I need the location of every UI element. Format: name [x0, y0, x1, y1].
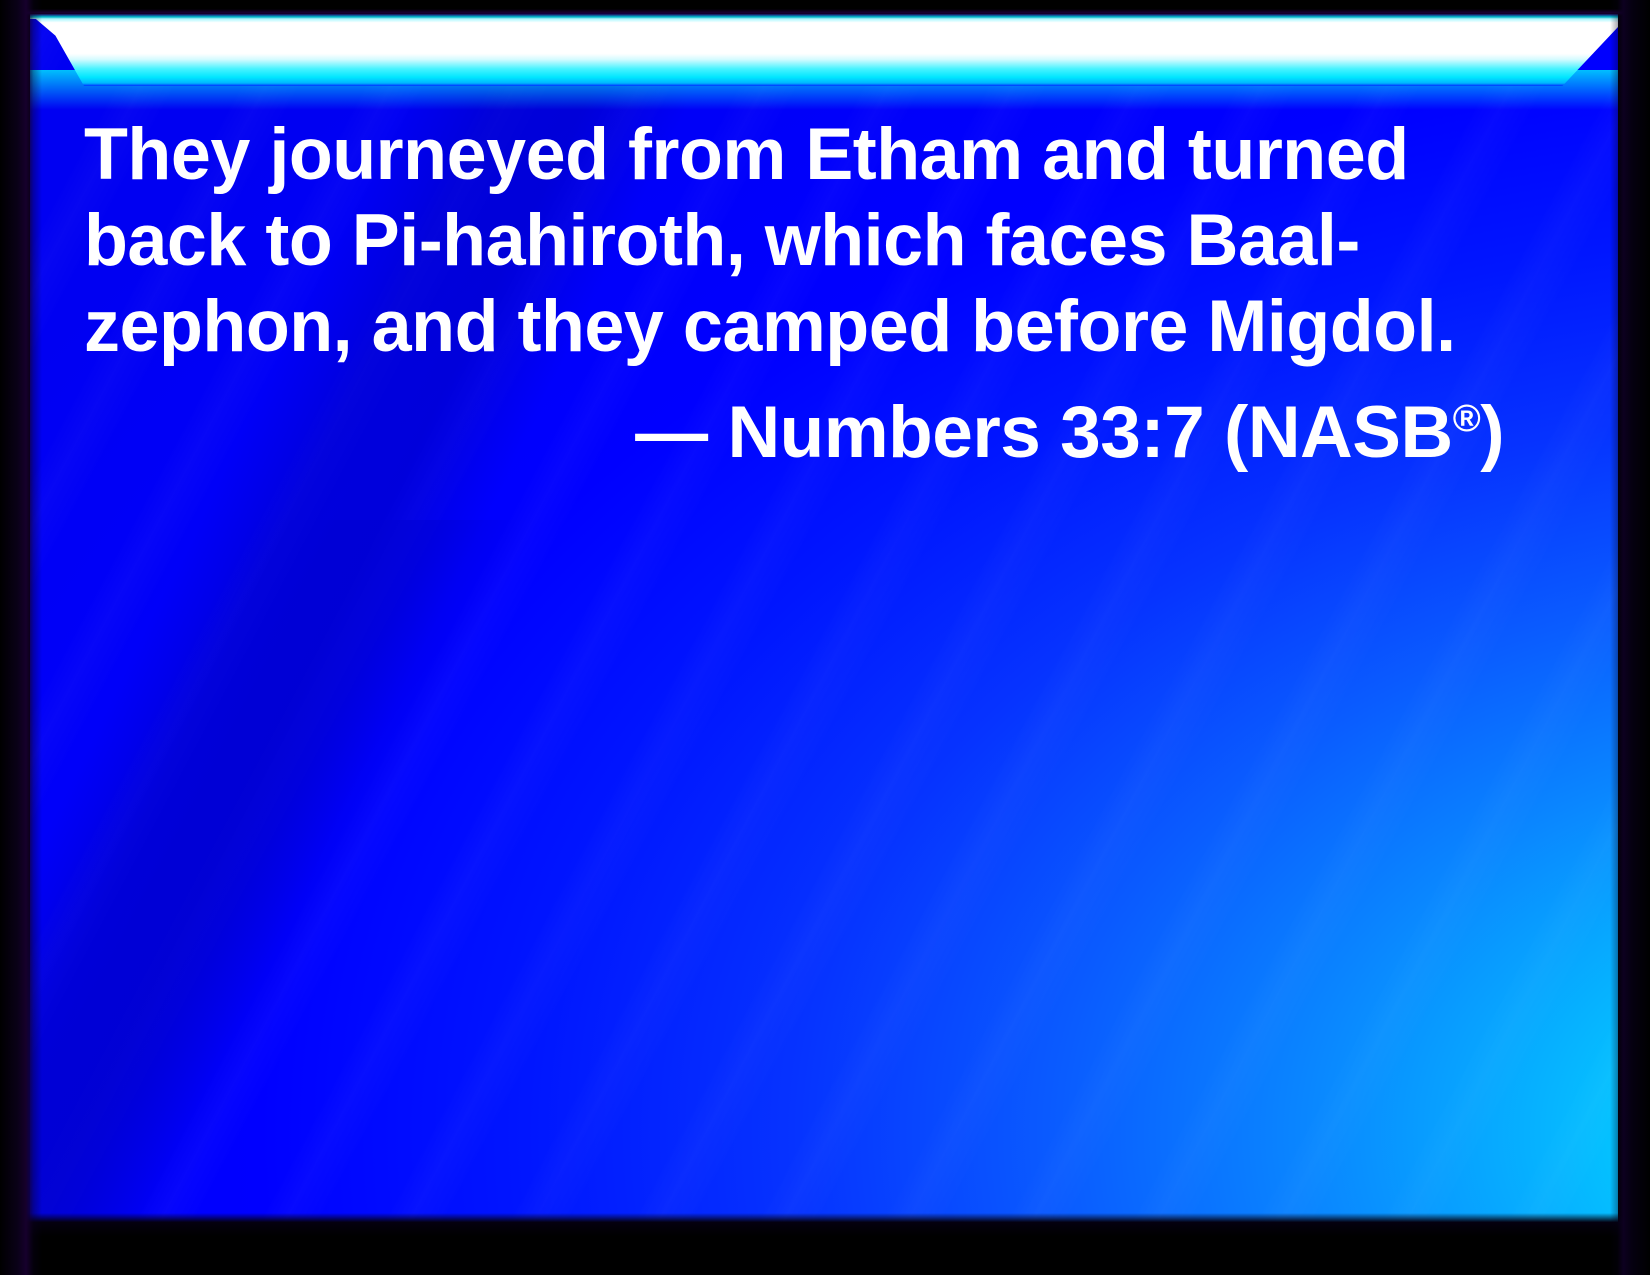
verse-citation: — Numbers 33:7 (NASB®): [84, 370, 1504, 476]
verse-text-block: They journeyed from Etham and turned bac…: [84, 112, 1504, 476]
registered-trademark-icon: ®: [1453, 398, 1481, 440]
verse-line-3: zephon, and they camped before Migdol.: [84, 284, 1483, 370]
scripture-verse-slide: They journeyed from Etham and turned bac…: [0, 0, 1650, 1275]
citation-reference: Numbers 33:7 (NASB: [727, 392, 1452, 473]
citation-em-dash: —: [635, 392, 727, 473]
background-dark-diagonal-band-secondary: [0, 520, 760, 1260]
frame-border-right: [1610, 0, 1650, 1275]
top-glow-band: [30, 14, 1618, 86]
verse-line-2: back to Pi-hahiroth, which faces Baal-: [84, 198, 1483, 284]
verse-line-1: They journeyed from Etham and turned: [84, 112, 1483, 198]
frame-border-top: [0, 0, 1650, 16]
frame-border-bottom: [0, 1213, 1650, 1275]
citation-closing-paren: ): [1480, 392, 1504, 473]
frame-border-left: [0, 0, 42, 1275]
top-glow-bleed: [30, 70, 1618, 110]
top-glow-hairline: [30, 14, 1618, 19]
